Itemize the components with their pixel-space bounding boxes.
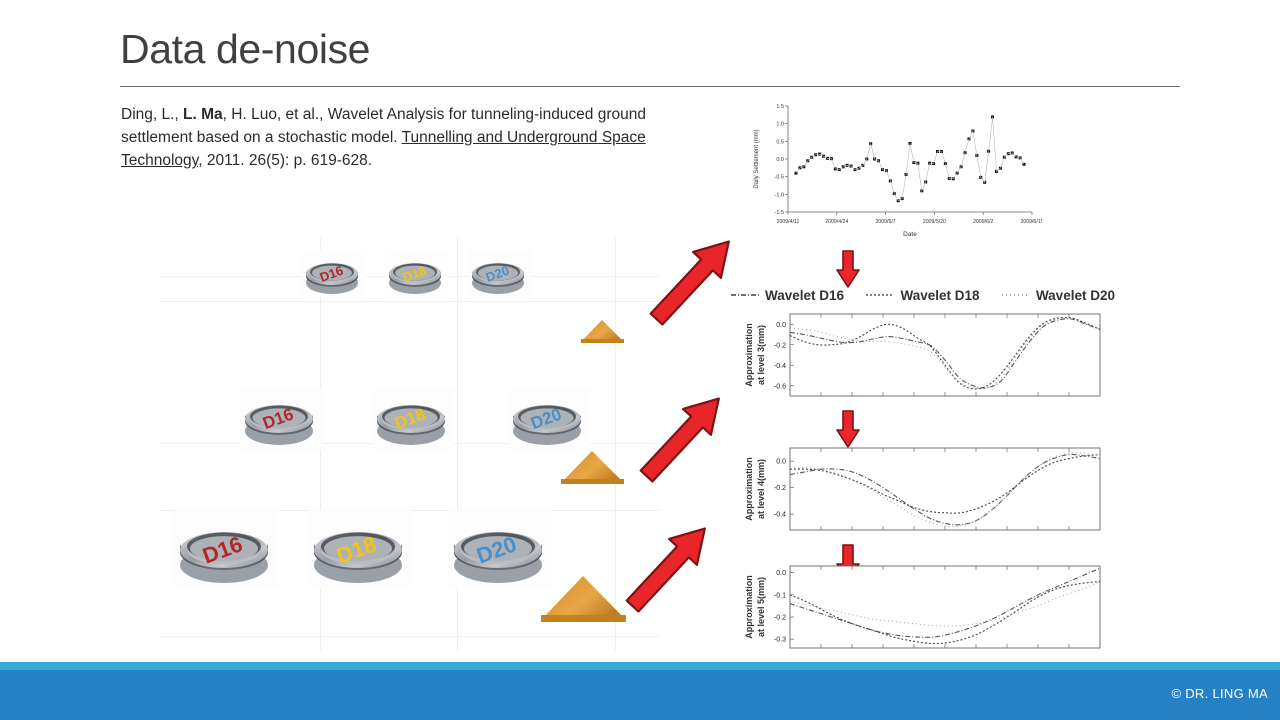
- svg-text:2009/5/20: 2009/5/20: [923, 219, 946, 225]
- svg-text:2009/6/15: 2009/6/15: [1020, 219, 1042, 225]
- chart-2-ylabel: Approximation: [744, 457, 754, 521]
- chart-0-ylabel: Daily Settlement (mm): [754, 129, 760, 188]
- legend-item-d20: Wavelet D20: [1001, 288, 1115, 303]
- svg-text:-0.2: -0.2: [774, 485, 786, 492]
- sieve-d20-large: D20: [448, 510, 552, 588]
- svg-text:-0.6: -0.6: [774, 383, 786, 390]
- legend-label-d20: Wavelet D20: [1036, 288, 1115, 303]
- chart-3-ylabel-2: at level 5(mm): [756, 577, 766, 637]
- svg-text:-0.2: -0.2: [774, 342, 786, 349]
- chart-approximation-level-3: 0.0-0.2-0.4-0.6 Approximation at level 3…: [720, 308, 1110, 408]
- sieve-d16-small: D16: [302, 250, 366, 298]
- citation-part-3: , 2011. 26(5): p. 619-628.: [198, 152, 372, 169]
- sieve-d18-small: D18: [385, 250, 449, 298]
- sieve-d16-large: D16: [174, 510, 278, 588]
- grid-line-horizontal: [160, 636, 660, 637]
- svg-text:-1.5: -1.5: [775, 210, 784, 216]
- footer-accent-strip: [0, 662, 1280, 670]
- chart-1-ylabel: Approximation: [744, 323, 754, 387]
- wavelet-chart-column: 1.51.00.50.0-0.5-1.0-1.5 2009/4/112009/4…: [712, 100, 1112, 655]
- citation-bold-author: L. Ma: [183, 106, 223, 123]
- sieve-diagram: D16 D18 D20: [160, 238, 660, 650]
- legend-swatch-d18: [865, 291, 895, 299]
- svg-text:0.0: 0.0: [776, 459, 786, 466]
- svg-text:0.0: 0.0: [776, 570, 786, 577]
- sand-pile-medium: [558, 446, 628, 486]
- legend-label-d16: Wavelet D16: [765, 288, 844, 303]
- svg-text:0.0: 0.0: [776, 322, 786, 329]
- wavelet-legend: Wavelet D16 Wavelet D18 Wavelet D20: [730, 286, 1115, 304]
- footer-bar: [0, 670, 1280, 720]
- footer-copyright: © DR. LING MA: [1171, 686, 1268, 701]
- chart-2-ylabel-2: at level 4(mm): [756, 459, 766, 519]
- sieve-d20-small: D20: [468, 250, 532, 298]
- legend-swatch-d16: [730, 291, 760, 299]
- svg-text:-0.1: -0.1: [774, 592, 786, 599]
- sieve-d18-large: D18: [308, 510, 412, 588]
- svg-text:-0.2: -0.2: [774, 614, 786, 621]
- svg-text:-1.0: -1.0: [775, 192, 784, 198]
- arrow-down-1-icon: [834, 248, 862, 290]
- arrow-diagonal-3-icon: [608, 523, 728, 613]
- svg-text:-0.5: -0.5: [775, 175, 784, 181]
- svg-text:1.0: 1.0: [776, 122, 784, 128]
- title-divider: [120, 86, 1180, 87]
- sieve-d20-medium: D20: [508, 388, 590, 450]
- svg-text:2009/6/2: 2009/6/2: [973, 219, 993, 225]
- chart-daily-settlement: 1.51.00.50.0-0.5-1.0-1.5 2009/4/112009/4…: [732, 100, 1042, 248]
- svg-text:2009/4/11: 2009/4/11: [777, 219, 800, 225]
- svg-text:-0.3: -0.3: [774, 637, 786, 644]
- legend-label-d18: Wavelet D18: [900, 288, 979, 303]
- svg-text:1.5: 1.5: [776, 104, 784, 110]
- sand-pile-small: [578, 316, 628, 344]
- svg-text:2009/4/24: 2009/4/24: [825, 219, 848, 225]
- chart-approximation-level-5: 0.0-0.1-0.2-0.3 Approximation at level 5…: [720, 560, 1110, 660]
- legend-item-d16: Wavelet D16: [730, 288, 844, 303]
- legend-item-d18: Wavelet D18: [865, 288, 979, 303]
- chart-0-xlabel: Date: [903, 231, 917, 238]
- svg-text:0.0: 0.0: [776, 157, 784, 163]
- svg-text:2009/5/7: 2009/5/7: [875, 219, 895, 225]
- citation-part-1: Ding, L.,: [121, 106, 183, 123]
- svg-text:0.5: 0.5: [776, 139, 784, 145]
- legend-swatch-d20: [1001, 291, 1031, 299]
- grid-line-horizontal: [160, 301, 660, 302]
- svg-text:-0.4: -0.4: [774, 363, 786, 370]
- chart-approximation-level-4: 0.0-0.2-0.4 Approximation at level 4(mm): [720, 442, 1110, 542]
- svg-text:-0.4: -0.4: [774, 512, 786, 519]
- sieve-d16-medium: D16: [240, 388, 322, 450]
- page-title: Data de-noise: [120, 26, 370, 73]
- citation-text: Ding, L., L. Ma, H. Luo, et al., Wavelet…: [121, 103, 721, 172]
- grid-line-vertical: [457, 238, 458, 650]
- sieve-d18-medium: D18: [372, 388, 454, 450]
- chart-3-ylabel: Approximation: [744, 575, 754, 639]
- chart-1-ylabel-2: at level 3(mm): [756, 325, 766, 385]
